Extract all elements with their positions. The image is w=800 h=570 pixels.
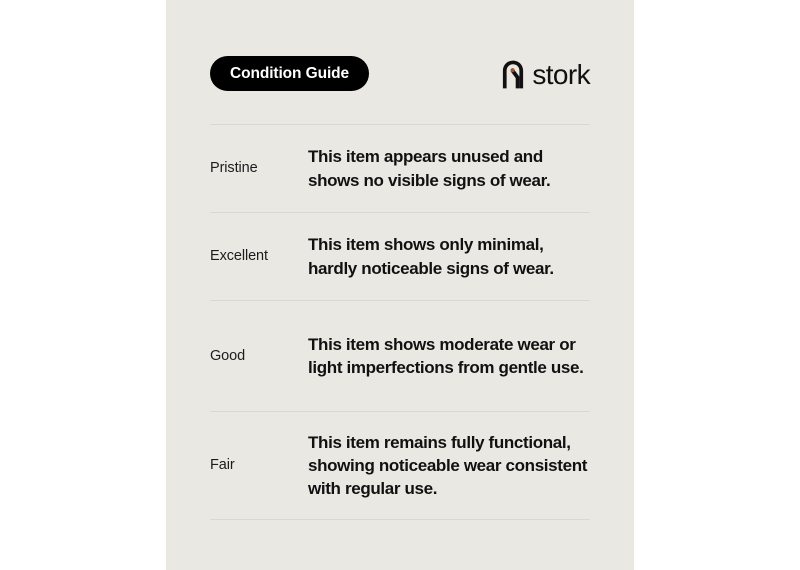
condition-label: Fair bbox=[210, 456, 308, 475]
divider-bottom bbox=[210, 519, 590, 520]
table-row: Excellent This item shows only minimal, … bbox=[210, 213, 590, 300]
card-header: Condition Guide stork bbox=[210, 56, 590, 92]
brand-name: stork bbox=[532, 61, 590, 89]
condition-description: This item remains fully functional, show… bbox=[308, 431, 590, 501]
condition-table: Pristine This item appears unused and sh… bbox=[210, 124, 590, 520]
condition-description: This item shows moderate wear or light i… bbox=[308, 333, 590, 380]
page-root: Condition Guide stork Pristine This item… bbox=[0, 0, 800, 570]
logo-dot-icon bbox=[511, 68, 515, 72]
condition-label: Excellent bbox=[210, 247, 308, 266]
condition-guide-card: Condition Guide stork Pristine This item… bbox=[166, 0, 634, 570]
table-row: Fair This item remains fully functional,… bbox=[210, 412, 590, 519]
stork-arch-logo-icon bbox=[501, 59, 525, 90]
condition-label: Pristine bbox=[210, 159, 308, 178]
condition-label: Good bbox=[210, 347, 308, 366]
table-row: Good This item shows moderate wear or li… bbox=[210, 301, 590, 411]
brand-lockup: stork bbox=[501, 55, 590, 93]
table-row: Pristine This item appears unused and sh… bbox=[210, 125, 590, 212]
condition-description: This item appears unused and shows no vi… bbox=[308, 145, 590, 192]
condition-guide-badge: Condition Guide bbox=[210, 56, 369, 91]
condition-description: This item shows only minimal, hardly not… bbox=[308, 233, 590, 280]
